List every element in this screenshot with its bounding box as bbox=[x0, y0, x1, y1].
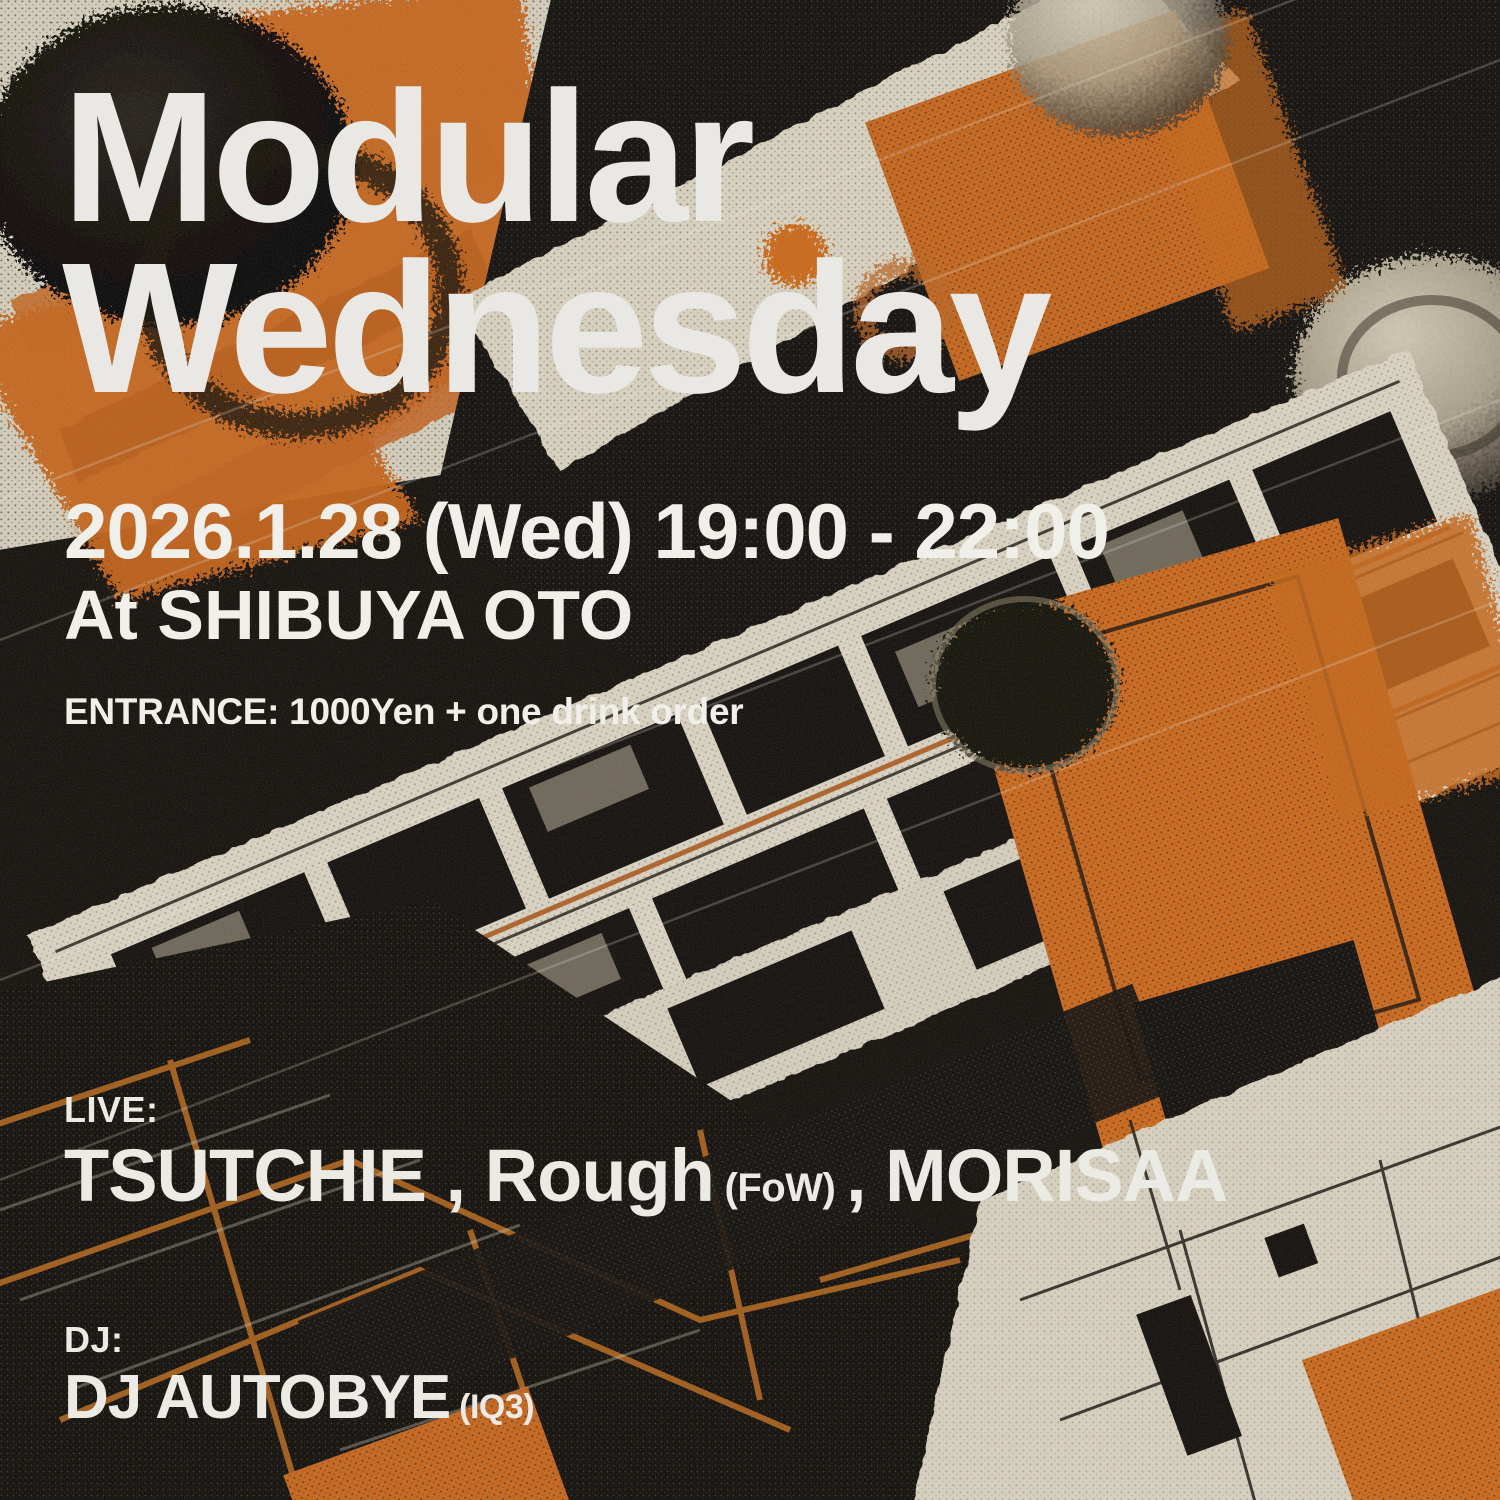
poster-title: Modular Wednesday bbox=[62, 72, 1047, 414]
live-artists: TSUTCHIE , Rough (FoW) , MORISAA bbox=[64, 1138, 1228, 1215]
dj-artist-affiliation: (IQ3) bbox=[450, 1388, 534, 1426]
dj-lineup-block: DJ: DJ AUTOBYE (IQ3) bbox=[64, 1322, 534, 1430]
event-entrance-fee: ENTRANCE: 1000Yen + one drink order bbox=[64, 690, 1109, 734]
dj-artists: DJ AUTOBYE (IQ3) bbox=[64, 1366, 534, 1430]
dj-label: DJ: bbox=[64, 1322, 534, 1358]
live-lineup-block: LIVE: TSUTCHIE , Rough (FoW) , MORISAA bbox=[64, 1092, 1228, 1215]
event-venue: At SHIBUYA OTO bbox=[64, 576, 1109, 654]
event-datetime: 2026.1.28 (Wed) 19:00 - 22:00 bbox=[64, 492, 1109, 572]
event-details: 2026.1.28 (Wed) 19:00 - 22:00 At SHIBUYA… bbox=[64, 492, 1109, 734]
poster-title-text: Modular Wednesday bbox=[62, 54, 1047, 432]
live-artists-primary: TSUTCHIE , Rough bbox=[64, 1134, 714, 1217]
live-artists-secondary: , MORISAA bbox=[846, 1134, 1228, 1217]
event-poster: Modular Wednesday 2026.1.28 (Wed) 19:00 … bbox=[0, 0, 1500, 1500]
poster-content: Modular Wednesday 2026.1.28 (Wed) 19:00 … bbox=[0, 0, 1500, 1500]
live-label: LIVE: bbox=[64, 1092, 1228, 1128]
live-artist-affiliation: (FoW) bbox=[714, 1166, 846, 1210]
dj-artist-name: DJ AUTOBYE bbox=[64, 1363, 450, 1432]
